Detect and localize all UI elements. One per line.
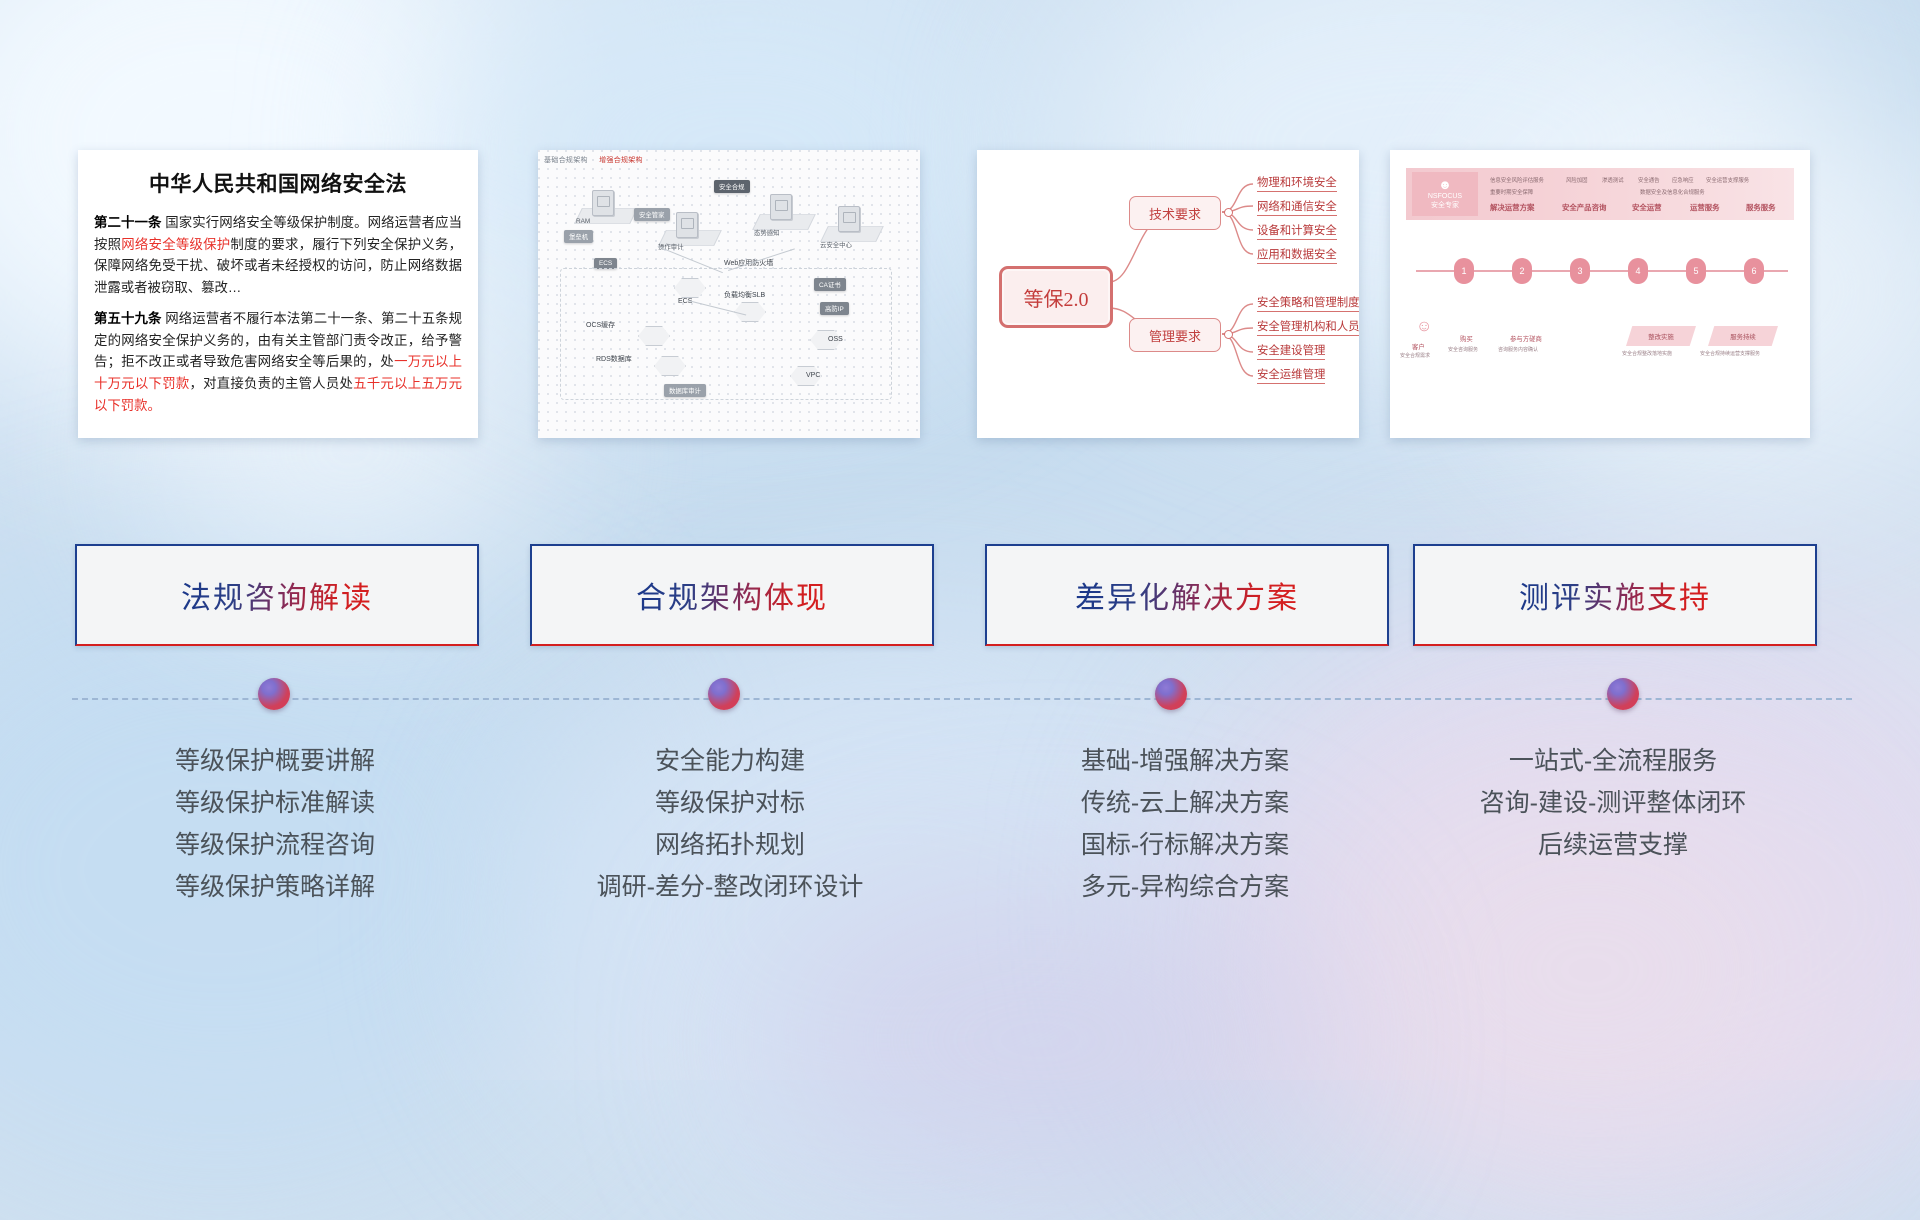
mindmap-branch-management: 管理要求: [1129, 318, 1221, 352]
heading-label-3: 测评实施支持: [1519, 573, 1711, 617]
mindmap-leaf-ops-mgmt: 安全运维管理: [1257, 366, 1325, 384]
nsfocus-service-2: 安全运营: [1632, 202, 1662, 213]
nsfocus-step-2: 2: [1512, 258, 1532, 284]
nsfocus-step-1: 1: [1454, 258, 1474, 284]
list-item: 等级保护概要讲解: [75, 740, 475, 782]
law-document-body: 中华人民共和国网络安全法 第二十一条 国家实行网络安全等级保护制度。网络运营者应…: [78, 150, 478, 438]
heading-box-evaluation-support[interactable]: 测评实施支持: [1413, 544, 1817, 646]
nsfocus-timeline-card: ☻ NSFOCUS 安全专家 信息安全风险评估服务 风险加固 渗透测试 安全通告…: [1390, 150, 1810, 438]
mindmap-collapse-dot-management[interactable]: [1224, 330, 1233, 339]
mindmap-leaf-network-comm: 网络和通信安全: [1257, 198, 1337, 216]
mindmap-branch-technical: 技术要求: [1129, 196, 1221, 230]
list-item: 咨询-建设-测评整体闭环: [1413, 782, 1813, 824]
nsfocus-top-label-6: 重要时期安全保障: [1490, 188, 1533, 196]
mindmap-collapse-dot-technical[interactable]: [1224, 208, 1233, 217]
nsfocus-top-label-3: 安全通告: [1638, 176, 1660, 184]
nsfocus-left-sub-0: 安全合规需求: [1400, 352, 1430, 359]
law-article-21: 第二十一条 国家实行网络安全等级保护制度。网络运营者应当按照网络安全等级保护制度…: [94, 212, 462, 299]
nsfocus-parallelogram-1: 服务持续: [1708, 326, 1778, 346]
list-item: 调研-差分-整改闭环设计: [530, 866, 930, 908]
arch-label-audit: 操作审计: [658, 242, 684, 251]
timeline-dashed-line: [72, 698, 1852, 700]
nsfocus-logo: ☻ NSFOCUS 安全专家: [1412, 172, 1478, 216]
list-item: 后续运营支撑: [1413, 824, 1813, 866]
heading-box-row: 法规咨询解读 合规架构体现 差异化解决方案 测评实施支持: [0, 544, 1920, 648]
tab-enhanced-framework[interactable]: 增强合规架构: [599, 157, 643, 164]
customer-icon: ☺: [1416, 318, 1432, 336]
list-item: 一站式-全流程服务: [1413, 740, 1813, 782]
slide-stage: 中华人民共和国网络安全法 第二十一条 国家实行网络安全等级保护制度。网络运营者应…: [0, 0, 1920, 1080]
nsfocus-top-label-0: 信息安全风险评估服务: [1490, 176, 1544, 184]
nsfocus-left-sub-1: 安全咨询服务: [1448, 346, 1478, 353]
detail-column-4: 一站式-全流程服务 咨询-建设-测评整体闭环 后续运营支撑: [1413, 740, 1813, 866]
tab-basic-framework[interactable]: 基础合规架构: [544, 157, 588, 164]
detail-column-1: 等级保护概要讲解 等级保护标准解读 等级保护流程咨询 等级保护策略详解: [75, 740, 475, 908]
mindmap-leaf-org-personnel: 安全管理机构和人员: [1257, 318, 1359, 336]
law-title: 中华人民共和国网络安全法: [94, 168, 462, 198]
nsfocus-step-6: 6: [1744, 258, 1764, 284]
nsfocus-step-4: 4: [1628, 258, 1648, 284]
list-item: 基础-增强解决方案: [985, 740, 1385, 782]
arch-node-bastion: 堡垒机: [564, 230, 593, 243]
nsfocus-left-sub-2: 咨询服务内容确认: [1498, 346, 1538, 353]
list-item: 安全能力构建: [530, 740, 930, 782]
nsfocus-top-label-2: 渗透测试: [1602, 176, 1624, 184]
nsfocus-top-label-1: 风险加固: [1566, 176, 1588, 184]
nsfocus-top-label-5: 安全运营支撑服务: [1706, 176, 1749, 184]
heading-label-0: 法规咨询解读: [181, 573, 373, 617]
nsfocus-left-tag-2: 参与方磋商: [1510, 334, 1542, 343]
nsfocus-left-tag-0: 客户: [1412, 342, 1425, 351]
nsfocus-parallelogram-sub-1: 安全合规持续运营支撑服务: [1700, 350, 1760, 357]
list-item: 网络拓扑规划: [530, 824, 930, 866]
mindmap-card: 等保2.0 技术要求 物理和环境安全 网络和通信安全 设备和计算安全 应用和数据…: [977, 150, 1359, 438]
timeline-node-2[interactable]: [708, 678, 740, 710]
mindmap-leaf-build-mgmt: 安全建设管理: [1257, 342, 1325, 360]
detail-column-3: 基础-增强解决方案 传统-云上解决方案 国标-行标解决方案 多元-异构综合方案: [985, 740, 1385, 908]
heading-box-differentiated-solution[interactable]: 差异化解决方案: [985, 544, 1389, 646]
arch-node-security-butler: 安全管家: [634, 208, 670, 221]
nsfocus-service-3: 运营服务: [1690, 202, 1720, 213]
mindmap-canvas: 等保2.0 技术要求 物理和环境安全 网络和通信安全 设备和计算安全 应用和数据…: [977, 150, 1359, 438]
nsfocus-step-3: 3: [1570, 258, 1590, 284]
law-article-21-label: 第二十一条: [94, 215, 161, 230]
law-document-card: 中华人民共和国网络安全法 第二十一条 国家实行网络安全等级保护制度。网络运营者应…: [78, 150, 478, 438]
heading-label-1: 合规架构体现: [636, 573, 828, 617]
nsfocus-brand: NSFOCUS: [1428, 193, 1462, 202]
arch-label-ram: RAM: [576, 218, 590, 225]
nsfocus-service-0: 解决运营方案: [1490, 202, 1534, 213]
person-icon: ☻: [1438, 178, 1452, 191]
mindmap-leaf-physical-env: 物理和环境安全: [1257, 174, 1337, 192]
mindmap-core-node: 等保2.0: [999, 266, 1113, 328]
law-article-59: 第五十九条 网络运营者不履行本法第二十一条、第二十五条规定的网络安全保护义务的，…: [94, 308, 462, 417]
timeline-node-3[interactable]: [1155, 678, 1187, 710]
architecture-canvas: 基础合规架构 增强合规架构 安全合规 RAM 堡垒机 安全管家 操作审计 态势感…: [538, 150, 920, 438]
timeline-node-4[interactable]: [1607, 678, 1639, 710]
nsfocus-top-label-7: 数据安全及信息化合规服务: [1640, 188, 1705, 196]
detail-column-row: 等级保护概要讲解 等级保护标准解读 等级保护流程咨询 等级保护策略详解 安全能力…: [0, 740, 1920, 960]
nsfocus-service-1: 安全产品咨询: [1562, 202, 1606, 213]
mindmap-leaf-device-compute: 设备和计算安全: [1257, 222, 1337, 240]
detail-column-2: 安全能力构建 等级保护对标 网络拓扑规划 调研-差分-整改闭环设计: [530, 740, 930, 908]
heading-box-compliance-architecture[interactable]: 合规架构体现: [530, 544, 934, 646]
timeline: [0, 690, 1920, 730]
arch-node-security-compliance: 安全合规: [714, 180, 750, 193]
arch-label-cloud-security-center: 云安全中心: [820, 240, 852, 249]
law-article-21-seg-1: 网络安全等级保护: [121, 237, 230, 252]
list-item: 传统-云上解决方案: [985, 782, 1385, 824]
list-item: 国标-行标解决方案: [985, 824, 1385, 866]
mindmap-leaf-app-data: 应用和数据安全: [1257, 246, 1337, 264]
nsfocus-service-4: 服务服务: [1746, 202, 1776, 213]
list-item: 等级保护策略详解: [75, 866, 475, 908]
list-item: 多元-异构综合方案: [985, 866, 1385, 908]
heading-label-2: 差异化解决方案: [1075, 573, 1299, 617]
heading-box-regulation-consulting[interactable]: 法规咨询解读: [75, 544, 479, 646]
mindmap-leaf-policy-system: 安全策略和管理制度: [1257, 294, 1359, 312]
illustration-card-row: 中华人民共和国网络安全法 第二十一条 国家实行网络安全等级保护制度。网络运营者应…: [0, 150, 1920, 450]
nsfocus-canvas: ☻ NSFOCUS 安全专家 信息安全风险评估服务 风险加固 渗透测试 安全通告…: [1390, 150, 1810, 438]
nsfocus-top-label-4: 应急响应: [1672, 176, 1694, 184]
nsfocus-step-5: 5: [1686, 258, 1706, 284]
architecture-tab-bar: 基础合规架构 增强合规架构: [544, 155, 652, 165]
architecture-diagram-card: 基础合规架构 增强合规架构 安全合规 RAM 堡垒机 安全管家 操作审计 态势感…: [538, 150, 920, 438]
nsfocus-parallelogram-0: 整改实施: [1626, 326, 1696, 346]
timeline-node-1[interactable]: [258, 678, 290, 710]
list-item: 等级保护对标: [530, 782, 930, 824]
arch-label-situational: 态势感知: [754, 228, 780, 237]
law-article-59-seg-2: ，对直接负责的主管人员处: [189, 376, 353, 391]
list-item: 等级保护标准解读: [75, 782, 475, 824]
nsfocus-brand-sub: 安全专家: [1431, 202, 1459, 211]
list-item: 等级保护流程咨询: [75, 824, 475, 866]
law-article-59-label: 第五十九条: [94, 311, 161, 326]
nsfocus-parallelogram-sub-0: 安全合规整改落地实施: [1622, 350, 1672, 357]
nsfocus-left-tag-1: 购买: [1460, 334, 1473, 343]
